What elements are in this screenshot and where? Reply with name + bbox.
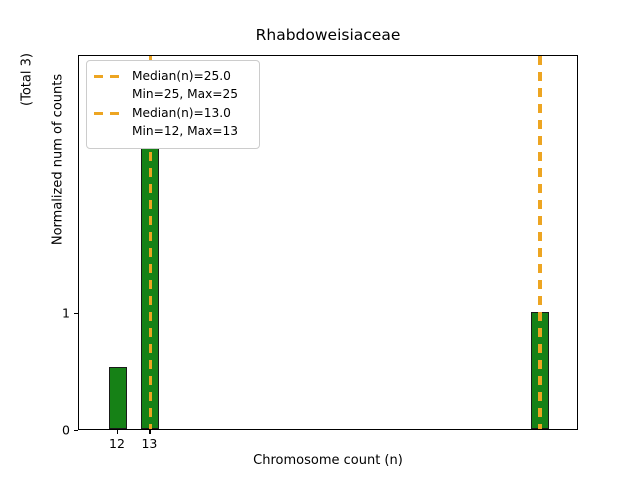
legend-line-2: Min=25, Max=25: [132, 85, 238, 103]
xtick-mark-12: [117, 430, 118, 434]
y-axis-sublabel: (Total 3): [20, 0, 35, 170]
legend-item-median-13: Median(n)=13.0 Min=12, Max=13: [94, 104, 252, 140]
ytick-label-0: 0: [52, 423, 70, 438]
x-axis-label: Chromosome count (n): [78, 453, 578, 468]
legend-item-text: Median(n)=13.0 Min=12, Max=13: [132, 104, 238, 140]
legend-item-median-25: Median(n)=25.0 Min=25, Max=25: [94, 67, 252, 103]
bar-12: [109, 367, 127, 429]
xtick-label-12: 12: [109, 436, 125, 451]
xtick-label-13: 13: [141, 436, 157, 451]
y-axis-label: Normalized num of counts: [51, 10, 66, 310]
median-line-25: [538, 56, 541, 429]
legend-line-1: Median(n)=25.0: [132, 69, 231, 83]
dashed-line-icon: [94, 107, 124, 121]
ytick-mark-1: [74, 313, 78, 314]
chart-legend: Median(n)=25.0 Min=25, Max=25 Median(n)=…: [86, 60, 260, 149]
xtick-mark-13: [149, 430, 150, 434]
ytick-mark-0: [74, 430, 78, 431]
chart-title: Rhabdoweisiaceae: [78, 26, 578, 44]
dashed-line-icon: [94, 70, 124, 84]
legend-line-1: Median(n)=13.0: [132, 106, 231, 120]
legend-line-2: Min=12, Max=13: [132, 122, 238, 140]
legend-item-text: Median(n)=25.0 Min=25, Max=25: [132, 67, 238, 103]
chart-figure: Rhabdoweisiaceae Median(n)=25.0 Min=25, …: [0, 0, 640, 480]
